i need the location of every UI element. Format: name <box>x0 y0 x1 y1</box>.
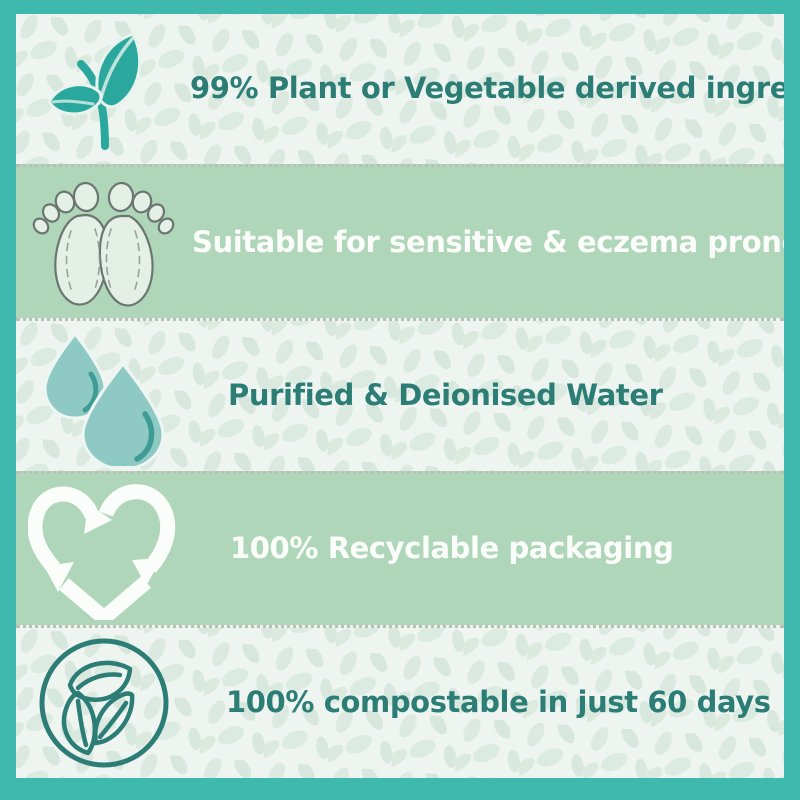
benefit-row: 100% compostable in just 60 days <box>16 625 784 778</box>
compostable-leaves-circle-icon-cell <box>16 628 192 778</box>
benefit-row: 100% Recyclable packaging <box>16 471 784 624</box>
benefit-row: Purified & Deionised Water <box>16 318 784 471</box>
water-droplets-icon-cell <box>16 321 192 471</box>
baby-footprints-icon <box>29 175 175 311</box>
benefit-row: Suitable for sensitive & eczema prone sk… <box>16 164 784 317</box>
benefit-label: Purified & Deionised Water <box>228 380 671 412</box>
benefit-label: 99% Plant or Vegetable derived ingredien… <box>190 73 784 105</box>
benefit-row: 99% Plant or Vegetable derived ingredien… <box>16 14 784 164</box>
recycle-heart-icon-cell <box>16 474 192 624</box>
water-droplets-icon <box>29 326 179 466</box>
benefit-label: 100% compostable in just 60 days <box>226 687 779 719</box>
plant-leaf-icon-cell <box>16 14 194 164</box>
recycle-heart-icon <box>28 478 180 620</box>
compostable-leaves-circle-icon <box>34 633 174 773</box>
baby-footprints-icon-cell <box>16 167 188 317</box>
benefits-infographic: 99% Plant or Vegetable derived ingredien… <box>0 0 800 800</box>
benefit-label: 100% Recyclable packaging <box>230 533 681 565</box>
benefit-label: Suitable for sensitive & eczema prone sk… <box>192 227 784 259</box>
plant-leaf-icon <box>41 26 169 152</box>
